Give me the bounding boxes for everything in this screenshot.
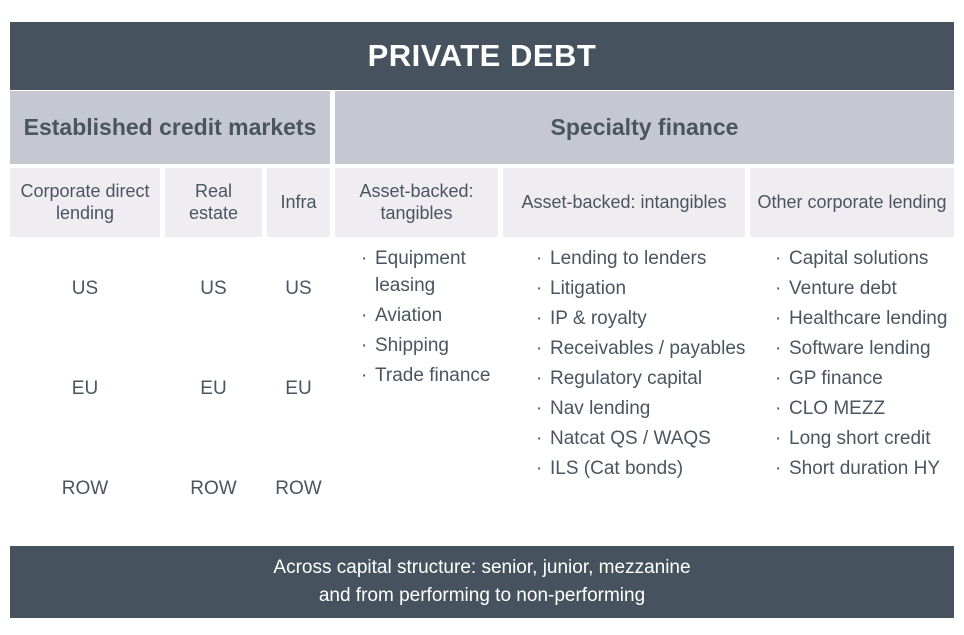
- region-item: US: [72, 279, 98, 298]
- column-body-asset-backed-tangibles: ·Equipment leasing ·Aviation ·Shipping ·…: [348, 237, 513, 533]
- list-item-label: Natcat QS / WAQS: [550, 428, 711, 449]
- list-item-label: ILS (Cat bonds): [550, 458, 683, 479]
- bullet-dot-icon: ·: [361, 246, 367, 273]
- list-item: ·Regulatory capital: [535, 366, 756, 393]
- category-specialty-finance: Specialty finance: [335, 91, 954, 164]
- list-item-label: Equipment leasing: [375, 248, 466, 296]
- list-item-label: Lending to lenders: [550, 248, 706, 269]
- list-item: ·Shipping: [360, 333, 511, 360]
- list-item-label: Short duration HY: [789, 458, 940, 479]
- list-item-label: Trade finance: [375, 365, 490, 386]
- bullet-dot-icon: ·: [775, 366, 781, 393]
- column-header-label: Infra: [280, 192, 316, 213]
- bullet-list-tangibles: ·Equipment leasing ·Aviation ·Shipping ·…: [360, 246, 511, 390]
- list-item-label: CLO MEZZ: [789, 398, 885, 419]
- column-header-label: Other corporate lending: [757, 192, 946, 213]
- list-item: ·Litigation: [535, 276, 756, 303]
- column-header-label: Asset-backed: intangibles: [521, 192, 726, 213]
- column-header-real-estate: Real estate: [165, 168, 262, 237]
- column-body-other-corporate-lending: ·Capital solutions ·Venture debt ·Health…: [762, 237, 962, 533]
- column-header-label: Asset-backed: tangibles: [341, 181, 492, 223]
- bullet-dot-icon: ·: [775, 246, 781, 273]
- bullet-dot-icon: ·: [775, 426, 781, 453]
- column-body-infra: US EU ROW: [267, 237, 330, 533]
- list-item-label: Venture debt: [789, 278, 897, 299]
- bullet-dot-icon: ·: [536, 336, 542, 363]
- list-item: ·Aviation: [360, 303, 511, 330]
- list-item-label: Healthcare lending: [789, 308, 947, 329]
- column-header-label: Corporate direct lending: [16, 181, 154, 223]
- bullet-dot-icon: ·: [536, 456, 542, 483]
- bullet-dot-icon: ·: [361, 303, 367, 330]
- list-item: ·ILS (Cat bonds): [535, 456, 756, 483]
- list-item-label: GP finance: [789, 368, 883, 389]
- bullet-dot-icon: ·: [536, 396, 542, 423]
- region-item: EU: [285, 379, 311, 398]
- list-item: ·CLO MEZZ: [774, 396, 960, 423]
- list-item-label: Receivables / payables: [550, 338, 745, 359]
- bullet-dot-icon: ·: [536, 276, 542, 303]
- list-item: ·Receivables / payables: [535, 336, 756, 363]
- bullet-dot-icon: ·: [775, 306, 781, 333]
- bullet-dot-icon: ·: [536, 306, 542, 333]
- category-label: Established credit markets: [24, 115, 317, 141]
- list-item-label: Shipping: [375, 335, 449, 356]
- bullet-dot-icon: ·: [361, 333, 367, 360]
- footer-line-1: Across capital structure: senior, junior…: [273, 554, 690, 582]
- list-item: ·Natcat QS / WAQS: [535, 426, 756, 453]
- region-item: EU: [72, 379, 98, 398]
- column-header-asset-backed-intangibles: Asset-backed: intangibles: [503, 168, 745, 237]
- list-item: ·Long short credit: [774, 426, 960, 453]
- region-item: EU: [200, 379, 226, 398]
- bullet-list-intangibles: ·Lending to lenders ·Litigation ·IP & ro…: [535, 246, 756, 483]
- bullet-dot-icon: ·: [536, 246, 542, 273]
- list-item: ·Short duration HY: [774, 456, 960, 483]
- bullet-dot-icon: ·: [536, 426, 542, 453]
- column-body-asset-backed-intangibles: ·Lending to lenders ·Litigation ·IP & ro…: [523, 237, 758, 533]
- bullet-dot-icon: ·: [775, 396, 781, 423]
- column-header-other-corporate-lending: Other corporate lending: [750, 168, 954, 237]
- list-item: ·Capital solutions: [774, 246, 960, 273]
- list-item: ·Software lending: [774, 336, 960, 363]
- footer-line-2: and from performing to non-performing: [319, 582, 645, 610]
- list-item-label: Software lending: [789, 338, 931, 359]
- bullet-dot-icon: ·: [361, 363, 367, 390]
- list-item-label: Capital solutions: [789, 248, 928, 269]
- list-item: ·Nav lending: [535, 396, 756, 423]
- private-debt-diagram: PRIVATE DEBT Established credit markets …: [0, 0, 964, 635]
- list-item: ·GP finance: [774, 366, 960, 393]
- list-item-label: Litigation: [550, 278, 626, 299]
- column-header-asset-backed-tangibles: Asset-backed: tangibles: [335, 168, 498, 237]
- diagram-body: US EU ROW US EU ROW US EU ROW ·Equipment…: [10, 237, 954, 533]
- list-item: ·Healthcare lending: [774, 306, 960, 333]
- list-item: ·IP & royalty: [535, 306, 756, 333]
- category-label: Specialty finance: [551, 115, 739, 141]
- bullet-dot-icon: ·: [775, 456, 781, 483]
- column-header-label: Real estate: [171, 181, 256, 223]
- list-item: ·Venture debt: [774, 276, 960, 303]
- column-body-real-estate: US EU ROW: [165, 237, 262, 533]
- category-established-credit-markets: Established credit markets: [10, 91, 330, 164]
- diagram-title-bar: PRIVATE DEBT: [10, 22, 954, 90]
- bullet-dot-icon: ·: [775, 276, 781, 303]
- region-item: US: [285, 279, 311, 298]
- column-body-corporate-direct-lending: US EU ROW: [10, 237, 160, 533]
- list-item: ·Trade finance: [360, 363, 511, 390]
- list-item-label: Aviation: [375, 305, 442, 326]
- list-item: ·Lending to lenders: [535, 246, 756, 273]
- region-item: ROW: [190, 479, 236, 498]
- column-header-corporate-direct-lending: Corporate direct lending: [10, 168, 160, 237]
- bullet-dot-icon: ·: [775, 336, 781, 363]
- footer-bar: Across capital structure: senior, junior…: [10, 546, 954, 618]
- page-title: PRIVATE DEBT: [368, 38, 597, 74]
- column-header-infra: Infra: [267, 168, 330, 237]
- list-item: ·Equipment leasing: [360, 246, 511, 300]
- region-item: ROW: [275, 479, 321, 498]
- column-header-row: Corporate direct lending Real estate Inf…: [10, 168, 954, 237]
- bullet-list-other-corporate: ·Capital solutions ·Venture debt ·Health…: [774, 246, 960, 483]
- region-item: ROW: [62, 479, 108, 498]
- category-band: Established credit markets Specialty fin…: [10, 91, 954, 164]
- bullet-dot-icon: ·: [536, 366, 542, 393]
- region-item: US: [200, 279, 226, 298]
- list-item-label: IP & royalty: [550, 308, 647, 329]
- list-item-label: Nav lending: [550, 398, 650, 419]
- list-item-label: Long short credit: [789, 428, 931, 449]
- list-item-label: Regulatory capital: [550, 368, 702, 389]
